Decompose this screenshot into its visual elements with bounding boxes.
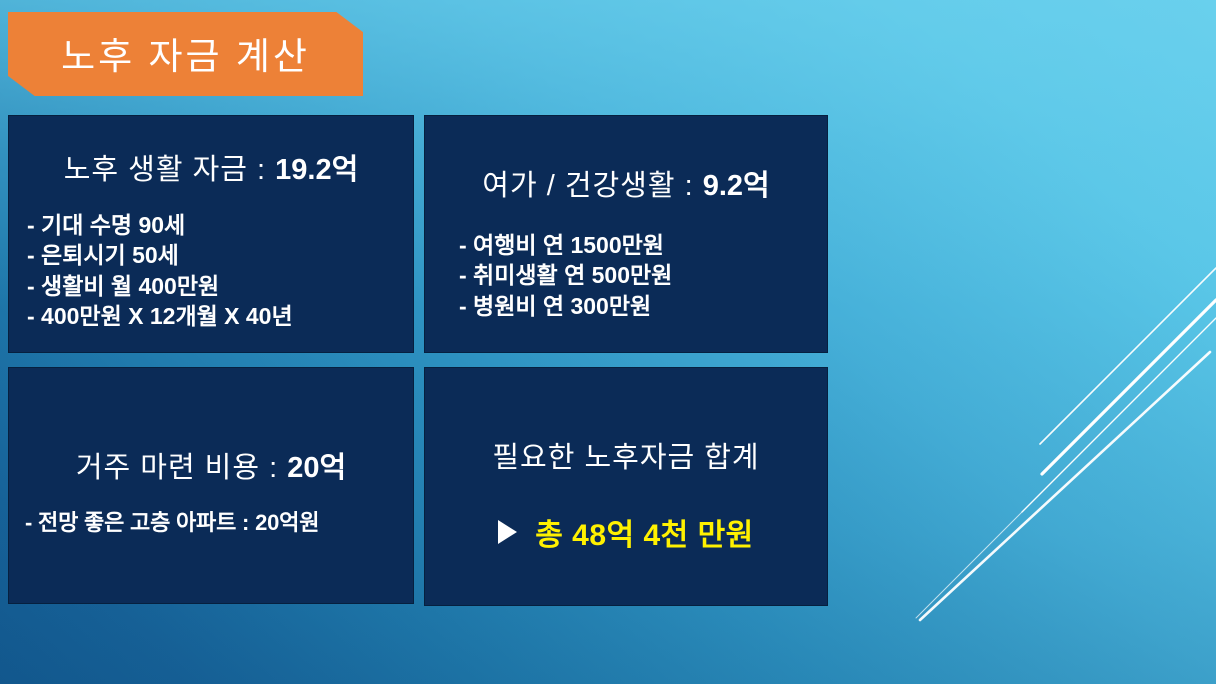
card-living-funds-title: 노후 생활 자금 : 19.2억 bbox=[21, 146, 401, 188]
card-living-funds-bullets: - 기대 수명 90세 - 은퇴시기 50세 - 생활비 월 400만원 - 4… bbox=[27, 210, 401, 331]
card-leisure-health-title: 여가 / 건강생활 : 9.2억 bbox=[437, 162, 815, 204]
page-title: 노후 자금 계산 bbox=[8, 12, 363, 96]
card-living-funds: 노후 생활 자금 : 19.2억 - 기대 수명 90세 - 은퇴시기 50세 … bbox=[8, 115, 414, 353]
card-living-funds-title-amount: 19.2억 bbox=[275, 154, 358, 186]
card-housing-cost-bullets: - 전망 좋은 고층 아파트 : 20억원 bbox=[25, 508, 401, 537]
card-housing-cost-title-amount: 20억 bbox=[287, 452, 346, 484]
list-item: - 은퇴시기 50세 bbox=[27, 240, 401, 270]
total-amount-row: 총 48억 4천 만원 bbox=[437, 510, 815, 554]
slide-title-banner: 노후 자금 계산 bbox=[8, 12, 363, 96]
total-amount-value: 총 48억 4천 만원 bbox=[535, 510, 754, 554]
slide-canvas: 노후 자금 계산 노후 생활 자금 : 19.2억 - 기대 수명 90세 - … bbox=[0, 0, 1216, 684]
list-item: - 전망 좋은 고층 아파트 : 20억원 bbox=[25, 508, 401, 537]
card-total-required-funds-title: 필요한 노후자금 합계 bbox=[437, 434, 815, 476]
card-total-required-funds: 필요한 노후자금 합계 총 48억 4천 만원 bbox=[424, 367, 828, 606]
list-item: - 생활비 월 400만원 bbox=[27, 271, 401, 301]
list-item: - 취미생활 연 500만원 bbox=[459, 260, 815, 290]
card-leisure-health-title-amount: 9.2억 bbox=[703, 170, 770, 202]
card-leisure-health-title-label: 여가 / 건강생활 : bbox=[482, 170, 702, 202]
play-triangle-icon bbox=[498, 520, 517, 544]
list-item: - 여행비 연 1500만원 bbox=[459, 230, 815, 260]
card-living-funds-title-label: 노후 생활 자금 : bbox=[64, 154, 275, 186]
card-leisure-health-bullets: - 여행비 연 1500만원 - 취미생활 연 500만원 - 병원비 연 30… bbox=[459, 230, 815, 321]
card-housing-cost-title: 거주 마련 비용 : 20억 bbox=[21, 444, 401, 486]
list-item: - 기대 수명 90세 bbox=[27, 210, 401, 240]
list-item: - 400만원 X 12개월 X 40년 bbox=[27, 301, 401, 331]
card-housing-cost: 거주 마련 비용 : 20억 - 전망 좋은 고층 아파트 : 20억원 bbox=[8, 367, 414, 604]
list-item: - 병원비 연 300만원 bbox=[459, 291, 815, 321]
card-leisure-health: 여가 / 건강생활 : 9.2억 - 여행비 연 1500만원 - 취미생활 연… bbox=[424, 115, 828, 353]
card-housing-cost-title-label: 거주 마련 비용 : bbox=[76, 452, 287, 484]
